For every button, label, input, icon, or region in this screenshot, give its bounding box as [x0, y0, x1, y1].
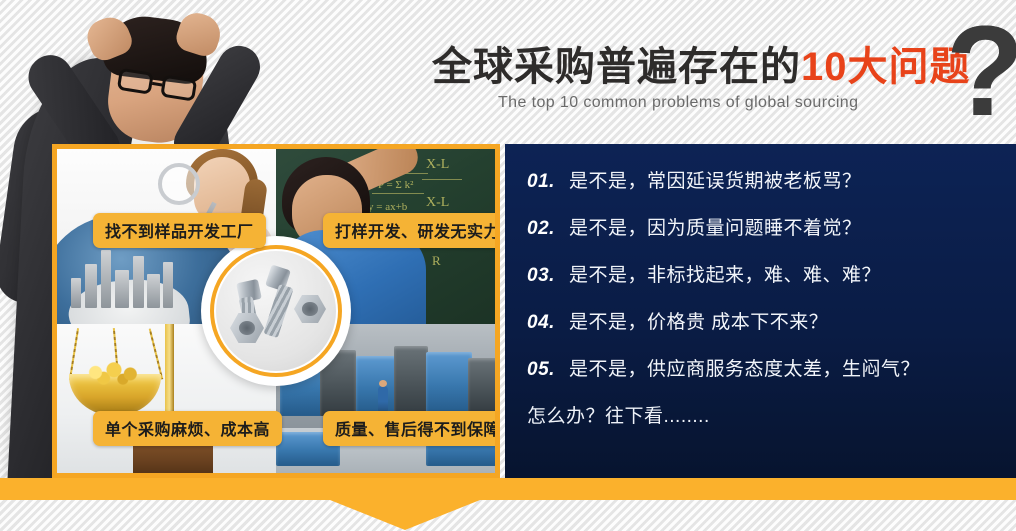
problem-list: 01. 是不是，常因延误货期被老板骂？ 02. 是不是，因为质量问题睡不着觉？ … [527, 166, 1002, 428]
poster-root: 全球采购普遍存在的10大问题 ? The top 10 common probl… [0, 0, 1016, 531]
bolt-shaft [263, 284, 293, 338]
list-item-number: 05. [527, 359, 569, 381]
gold-nuggets [77, 362, 151, 388]
list-item: 02. 是不是，因为质量问题睡不着觉？ [527, 213, 1002, 240]
list-item-text: 是不是，供应商服务态度太差，生闷气？ [569, 354, 920, 381]
hex-nut [230, 313, 264, 343]
page-title: 全球采购普遍存在的10大问题 [432, 44, 971, 90]
globe-building [71, 278, 81, 308]
list-item-number: 03. [527, 265, 569, 287]
factory-machine [468, 358, 495, 414]
closing-call-to-action: 怎么办？往下看........ [527, 401, 1002, 428]
collage-label-no-quality-aftersales: 质量、售后得不到保障 [323, 411, 500, 446]
collage-label-find-no-sample-factory: 找不到样品开发工厂 [93, 213, 266, 248]
list-item-text: 是不是，因为质量问题睡不着觉？ [569, 213, 862, 240]
list-item: 04. 是不是，价格贵 成本下不来？ [527, 307, 1002, 334]
bottom-accent-bar [0, 478, 1016, 500]
title-dark-part: 全球采购普遍存在的 [432, 45, 801, 89]
list-item-text: 是不是，非标找起来，难、难、难？ [569, 260, 881, 287]
headline-block: 全球采购普遍存在的10大问题 ? The top 10 common probl… [432, 44, 1012, 144]
factory-machine [356, 356, 398, 414]
list-item-text: 是不是，常因延误货期被老板骂？ [569, 166, 862, 193]
page-subtitle: The top 10 common problems of global sou… [498, 94, 858, 112]
factory-machine [394, 346, 428, 416]
list-item: 05. 是不是，供应商服务态度太差，生闷气？ [527, 354, 1002, 381]
globe-building [101, 250, 111, 308]
list-item: 03. 是不是，非标找起来，难、难、难？ [527, 260, 1002, 287]
glasses-bridge [152, 82, 162, 87]
list-item-number: 04. [527, 312, 569, 334]
collage-label-no-rnd-capability: 打样开发、研发无实力 [323, 213, 500, 248]
list-item: 01. 是不是，常因延误货期被老板骂？ [527, 166, 1002, 193]
problem-photo-collage: R=f(x) X-L P = Σ k² X-L R dL R y = ax+b [52, 144, 500, 478]
hex-nut [294, 295, 326, 323]
globe-building [133, 256, 144, 308]
factory-worker [378, 386, 388, 412]
list-item-number: 01. [527, 171, 569, 193]
globe-building [163, 262, 173, 308]
center-product-circle [201, 236, 351, 386]
magnifier-icon [158, 163, 200, 205]
question-mark-icon: ? [946, 8, 1016, 136]
globe-building [115, 270, 129, 308]
globe-building [85, 264, 97, 308]
list-item-text: 是不是，价格贵 成本下不来？ [569, 307, 828, 334]
globe-building [147, 274, 160, 308]
list-item-number: 02. [527, 218, 569, 240]
factory-machine [426, 352, 472, 414]
collage-label-single-purchase-costly: 单个采购麻烦、成本高 [93, 411, 282, 446]
down-arrow-notch-icon [330, 500, 480, 530]
problem-list-panel: 01. 是不是，常因延误货期被老板骂？ 02. 是不是，因为质量问题睡不着觉？ … [505, 144, 1016, 478]
bolts-photo [216, 251, 336, 371]
